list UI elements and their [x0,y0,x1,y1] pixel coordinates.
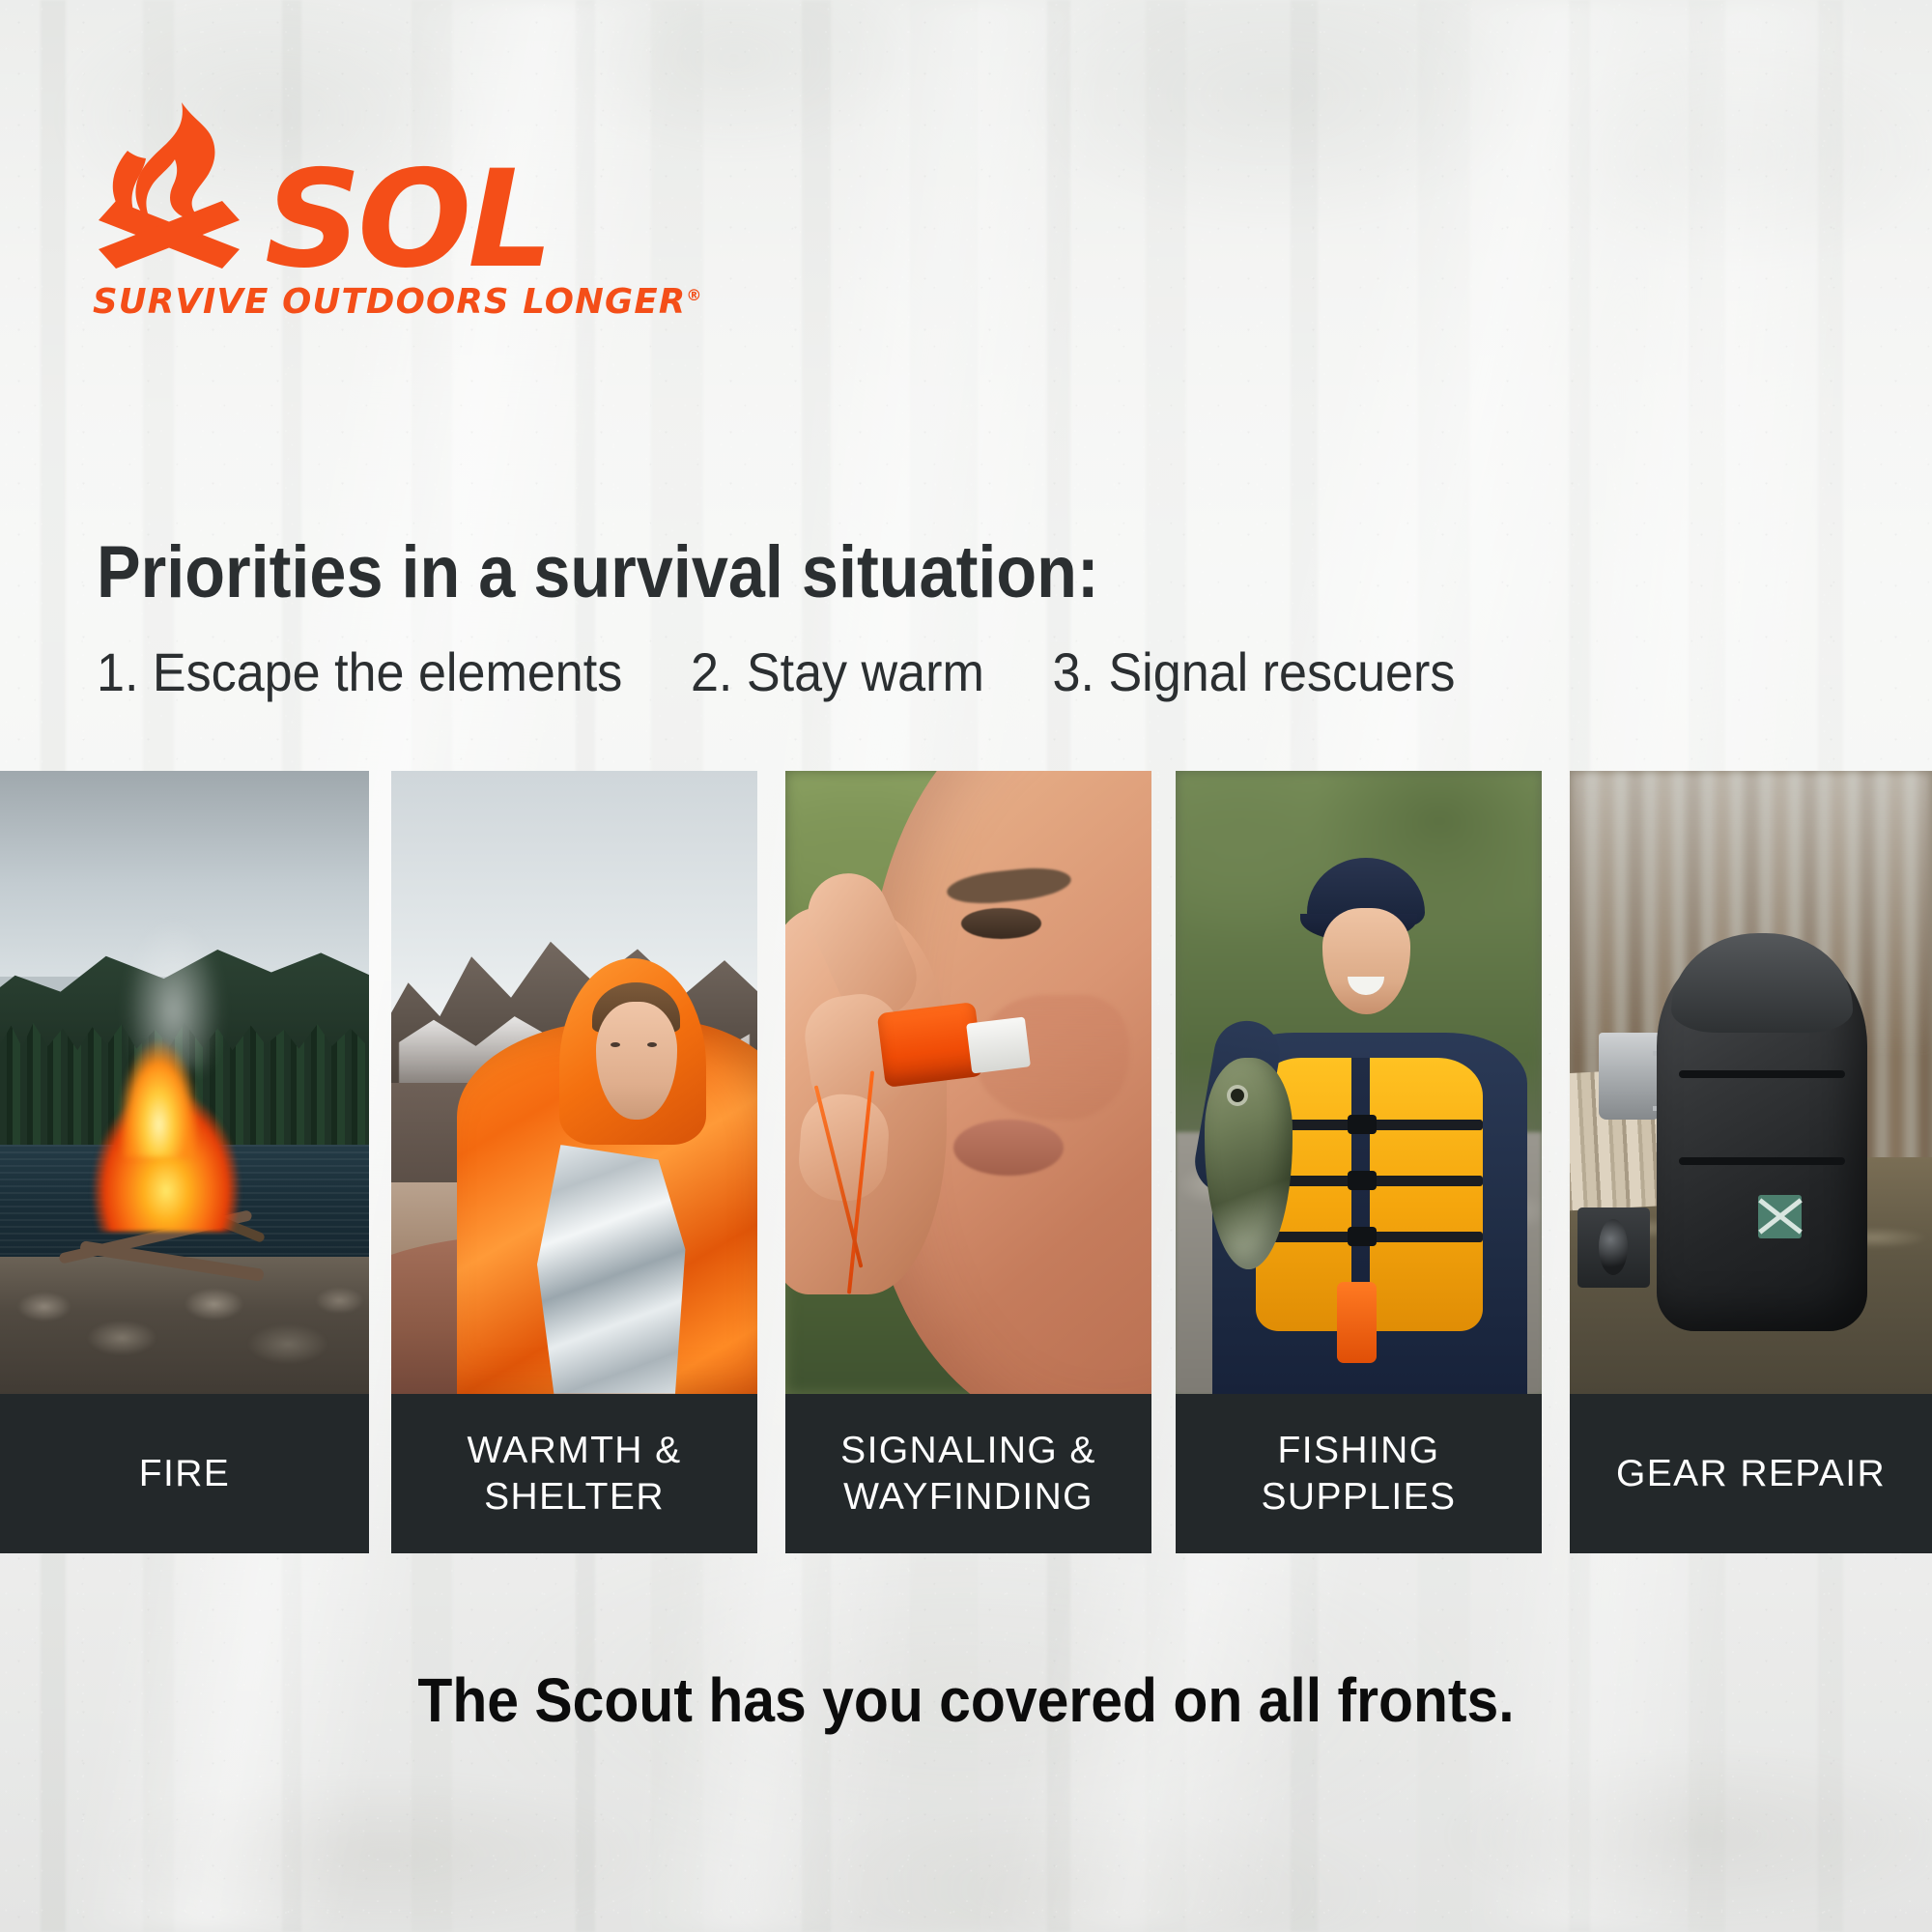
photo-warmth-shelter [391,771,757,1394]
caption-label-signaling-wayfinding: SIGNALING & WAYFINDING [840,1428,1096,1520]
footer-tagline: The Scout has you covered on all fronts. [77,1669,1855,1731]
photo-fishing-supplies [1176,771,1542,1394]
caption-bar-fire: FIRE [0,1394,369,1553]
feature-panel-fishing-supplies: FISHING SUPPLIES [1176,771,1542,1553]
promo-graphic: SOL SURVIVE OUTDOORS LONGER® Priorities … [0,0,1932,1932]
feature-panel-gear-repair: GEAR REPAIR [1570,771,1932,1553]
feature-photo-strip: FIRE WARMTH & SHELTER [0,771,1932,1553]
caption-label-warmth-shelter: WARMTH & SHELTER [467,1428,681,1520]
feature-panel-signaling-wayfinding: SIGNALING & WAYFINDING [785,771,1151,1553]
photo-gear-repair [1570,771,1932,1394]
logo-wordmark: SOL [265,160,550,278]
caption-bar-warmth-shelter: WARMTH & SHELTER [391,1394,757,1553]
caption-label-fishing-supplies: FISHING SUPPLIES [1262,1428,1457,1520]
caption-bar-signaling-wayfinding: SIGNALING & WAYFINDING [785,1394,1151,1553]
caption-bar-fishing-supplies: FISHING SUPPLIES [1176,1394,1542,1553]
caption-label-fire: FIRE [139,1451,230,1497]
caption-label-gear-repair: GEAR REPAIR [1616,1451,1886,1497]
photo-fire [0,771,369,1394]
brand-logo: SOL SURVIVE OUTDOORS LONGER® [93,100,508,322]
priority-item-1: 1. Escape the elements [97,645,622,699]
photo-signaling-wayfinding [785,771,1151,1394]
caption-bar-gear-repair: GEAR REPAIR [1570,1394,1932,1553]
registered-trademark-symbol: ® [686,286,701,304]
feature-panel-warmth-shelter: WARMTH & SHELTER [391,771,757,1553]
feature-panel-fire: FIRE [0,771,369,1553]
priority-item-3: 3. Signal rescuers [1053,645,1456,699]
page-title: Priorities in a survival situation: [97,536,1099,610]
priority-item-2: 2. Stay warm [691,645,984,699]
priorities-list: 1. Escape the elements 2. Stay warm 3. S… [97,645,1455,699]
campfire-flame-icon [93,100,247,272]
